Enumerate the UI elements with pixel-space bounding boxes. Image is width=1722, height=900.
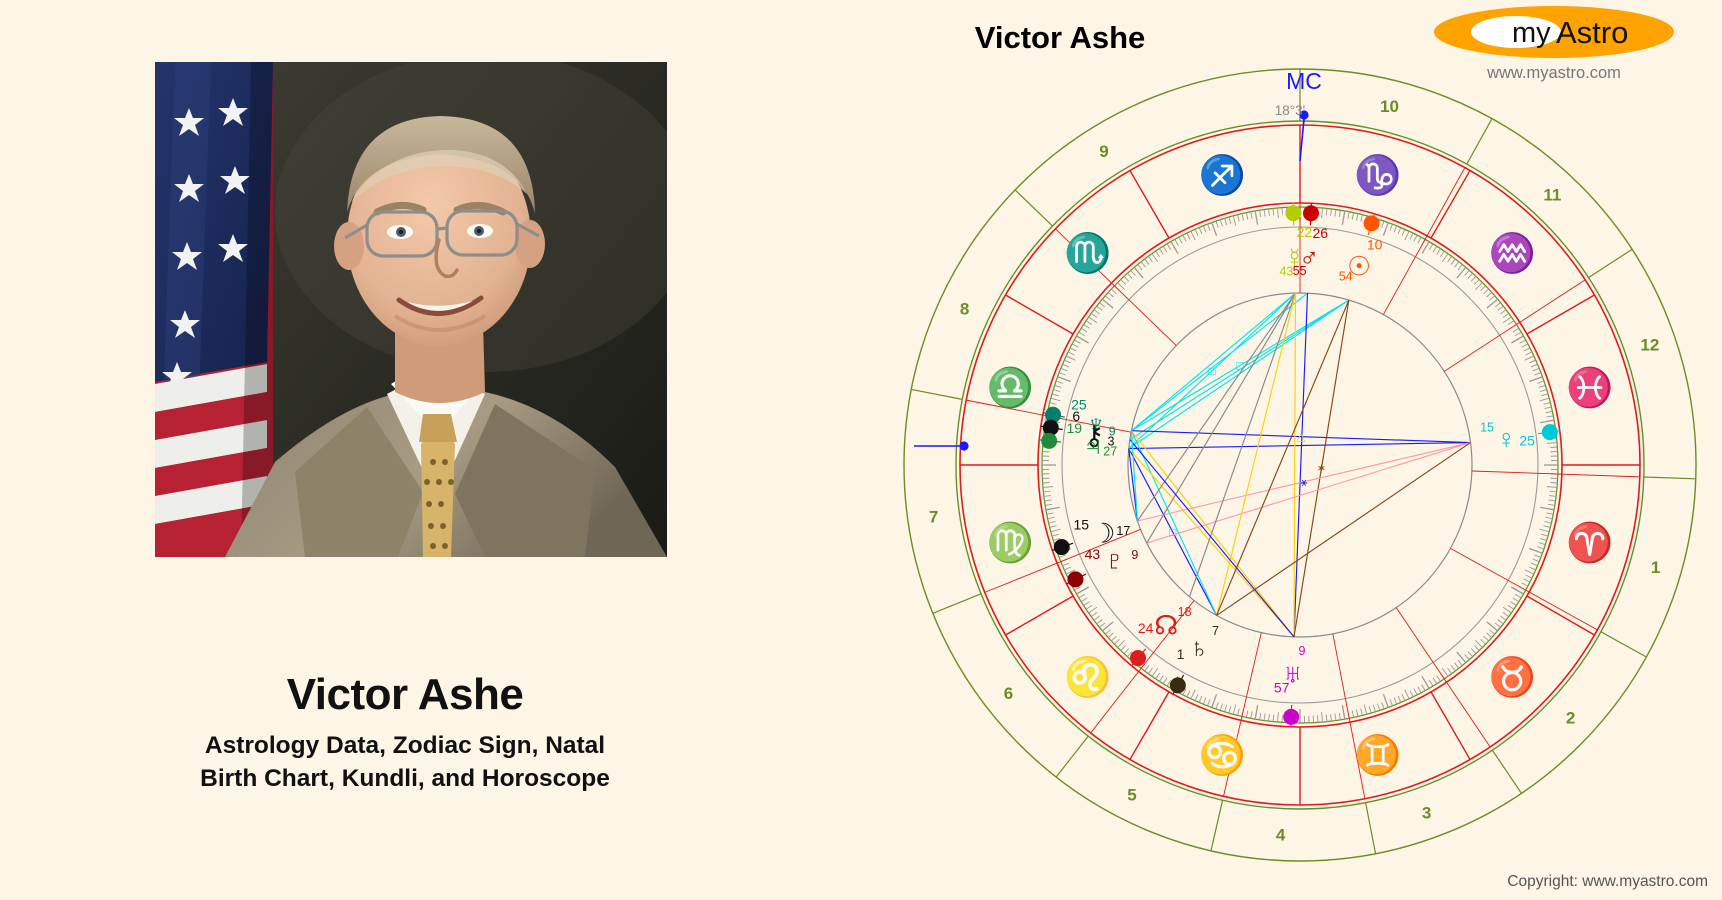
planet-marker-mars[interactable] <box>1303 205 1319 221</box>
mc-label: MC <box>1286 68 1322 94</box>
planet-marker-northnode[interactable] <box>1130 650 1146 666</box>
aspect-symbol: □ <box>1209 364 1216 378</box>
planet-degree-mars: 26 <box>1312 225 1328 241</box>
planet-pluto[interactable]: ♇439 <box>1067 545 1139 587</box>
planet-uranus[interactable]: ♅579 <box>1274 644 1306 727</box>
logo-text-astro: Astro <box>1556 15 1628 50</box>
aspect-symbol: □ <box>1237 358 1244 372</box>
planet-minute-moon: 17 <box>1116 524 1130 538</box>
house-number-5: 5 <box>1127 786 1136 805</box>
subtitle-line-2: Birth Chart, Kundli, and Horoscope <box>0 763 810 796</box>
planet-marker-saturn[interactable] <box>1170 677 1186 693</box>
planet-glyph-jupiter: ♃ <box>1083 431 1103 461</box>
zodiac-glyph-gemini: ♊ <box>1354 733 1401 777</box>
planet-marker-uranus[interactable] <box>1283 709 1299 725</box>
copyright-text: Copyright: www.myastro.com <box>1507 873 1708 891</box>
zodiac-glyph-pisces: ♓ <box>1566 365 1613 409</box>
planet-minute-pluto: 9 <box>1131 548 1138 562</box>
zodiac-glyph-scorpio: ♏ <box>1064 231 1111 275</box>
astrology-report-page: Victor Ashe Astrology Data, Zodiac Sign,… <box>0 0 1722 900</box>
planet-degree-sun: 10 <box>1367 237 1383 253</box>
zodiac-glyph-aries: ♈ <box>1566 521 1613 565</box>
zodiac-glyph-capricorn: ♑ <box>1354 153 1401 197</box>
zodiac-glyph-taurus: ♉ <box>1488 655 1535 699</box>
subtitle-line-1: Astrology Data, Zodiac Sign, Natal <box>0 730 810 763</box>
aspect-line-mars-uranus <box>1294 293 1308 637</box>
planet-glyph-northnode: ☊ <box>1154 610 1178 640</box>
house-number-11: 11 <box>1543 185 1561 204</box>
planet-marker-mercury[interactable] <box>1285 205 1301 221</box>
planet-minute-uranus: 9 <box>1299 644 1306 658</box>
aspect-symbol: ✶ <box>1316 461 1326 475</box>
planet-degree-saturn: 1 <box>1177 646 1185 662</box>
planet-minute-saturn: 7 <box>1212 624 1219 638</box>
planet-marker-venus[interactable] <box>1542 424 1558 440</box>
planet-degree-venus: 25 <box>1519 433 1535 449</box>
outer-sector-lines <box>911 69 1695 854</box>
house-number-8: 8 <box>960 300 969 319</box>
logo-text-my: my <box>1512 17 1551 49</box>
planet-glyph-moon: ☽ <box>1091 519 1115 549</box>
planet-sun[interactable]: ☉1054 <box>1339 214 1383 284</box>
chart-title: Victor Ashe <box>760 20 1360 56</box>
page-title: Victor Ashe <box>0 670 810 720</box>
zodiac-glyph-aquarius: ♒ <box>1488 231 1535 275</box>
house-number-6: 6 <box>1004 684 1013 703</box>
mc-degree-label: 18°3' <box>1275 103 1306 118</box>
planet-glyph-venus: ♀ <box>1496 424 1516 454</box>
planet-marker-pluto[interactable] <box>1067 571 1083 587</box>
planet-minute-jupiter: 27 <box>1103 444 1117 458</box>
house-number-7: 7 <box>929 507 938 526</box>
house-number-1: 1 <box>1651 558 1660 577</box>
zodiac-glyph-virgo: ♍ <box>987 521 1034 565</box>
planet-marker-jupiter[interactable] <box>1041 433 1057 449</box>
planet-degree-jupiter: 19 <box>1066 420 1082 436</box>
aspect-symbol: □ <box>1169 525 1176 539</box>
planet-degree-pluto: 43 <box>1085 546 1101 562</box>
house-number-12: 12 <box>1640 336 1659 355</box>
aspect-line-uranus-jupiter <box>1129 449 1294 637</box>
zodiac-glyph-cancer: ♋ <box>1199 733 1246 777</box>
planet-degree-moon: 15 <box>1073 516 1089 532</box>
house-number-9: 9 <box>1099 142 1108 161</box>
planet-marker-sun[interactable] <box>1364 215 1380 231</box>
zodiac-glyph-leo: ♌ <box>1064 655 1111 699</box>
planet-minute-sun: 54 <box>1339 270 1353 284</box>
house-number-3: 3 <box>1422 804 1431 823</box>
planet-minute-venus: 15 <box>1480 421 1494 435</box>
planet-glyph-pluto: ♇ <box>1105 545 1125 575</box>
aspect-symbol: ⚹ <box>1300 475 1307 489</box>
house-number-10: 10 <box>1380 97 1399 116</box>
aspect-symbol: △ <box>1296 430 1306 444</box>
page-subtitle: Astrology Data, Zodiac Sign, Natal Birth… <box>0 730 810 795</box>
aspect-line-venus-pluto <box>1147 443 1471 544</box>
planet-marker-moon[interactable] <box>1054 539 1070 555</box>
house-number-2: 2 <box>1566 708 1575 727</box>
planet-degree-mercury: 22 <box>1297 224 1313 240</box>
planet-minute-mercury: 43 <box>1279 264 1293 278</box>
zodiac-glyph-libra: ♎ <box>987 365 1034 409</box>
planet-glyph-saturn: ♄ <box>1189 633 1209 663</box>
mc-axis <box>1299 107 1308 465</box>
portrait-photo <box>155 62 667 557</box>
planet-venus[interactable]: ♀2515 <box>1480 421 1560 454</box>
planet-degree-northnode: 24 <box>1138 620 1154 636</box>
planet-degree-uranus: 57 <box>1274 679 1290 695</box>
house-number-4: 4 <box>1276 825 1286 844</box>
natal-chart-wheel[interactable]: □□△□⚹✶ ♐♏♎♍♌♋♊♉♈♓♒♑ 123456789101112 ☉105… <box>900 65 1700 865</box>
planet-minute-northnode: 18 <box>1178 605 1192 619</box>
aspect-line-uranus-mercury <box>1294 293 1296 637</box>
left-panel: Victor Ashe Astrology Data, Zodiac Sign,… <box>0 0 750 900</box>
zodiac-glyph-sagittarius: ♐ <box>1199 153 1246 197</box>
